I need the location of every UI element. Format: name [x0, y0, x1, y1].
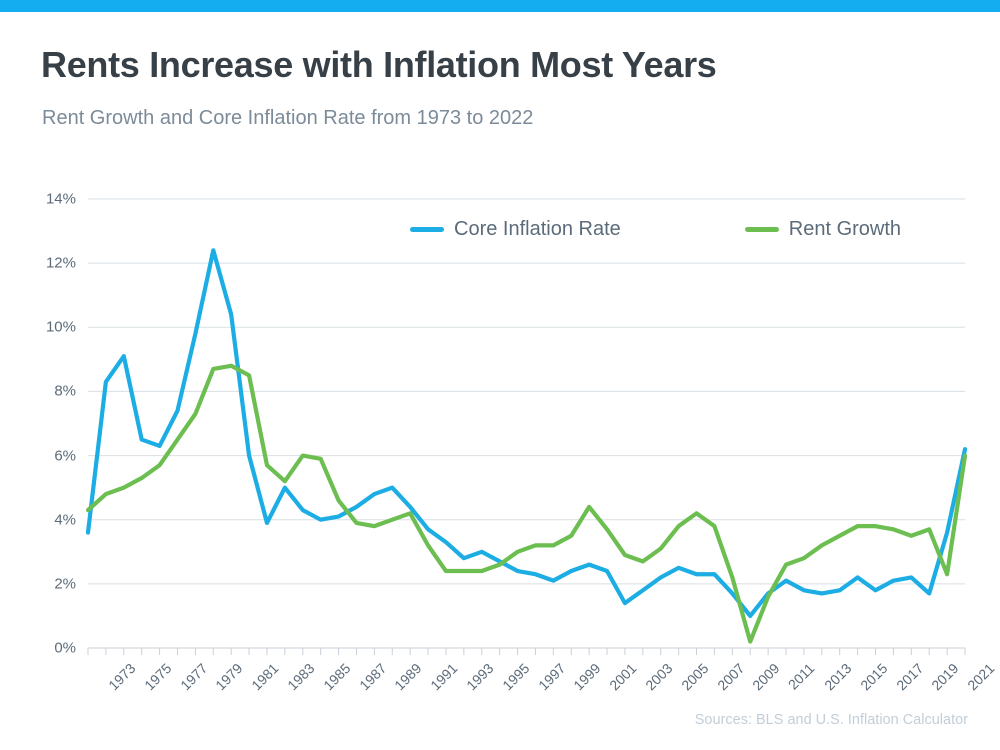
x-axis-tick-label: 2001	[606, 660, 639, 693]
x-axis-tick-label: 1993	[463, 660, 496, 693]
x-axis-tick-label: 2017	[893, 660, 926, 693]
source-attribution: Sources: BLS and U.S. Inflation Calculat…	[695, 712, 968, 728]
x-axis-tick-label: 1989	[391, 660, 424, 693]
x-axis-tick-label: 1983	[284, 660, 317, 693]
x-axis-tick-label: 2005	[678, 660, 711, 693]
x-axis-tick-label: 1991	[427, 660, 460, 693]
x-axis-tick-label: 2009	[749, 660, 782, 693]
x-axis-tick-label: 2003	[642, 660, 675, 693]
x-axis-tick-label: 1973	[105, 660, 138, 693]
x-axis-tick-label: 1985	[320, 660, 353, 693]
x-axis-tick-label: 1981	[248, 660, 281, 693]
x-axis-tick-label: 2007	[714, 660, 747, 693]
x-axis-tick-label: 1997	[535, 660, 568, 693]
x-axis-tick-label: 2013	[821, 660, 854, 693]
x-axis-tick-label: 1999	[570, 660, 603, 693]
x-axis-tick-label: 2011	[785, 660, 818, 693]
x-axis-labels: 1973197519771979198119831985198719891991…	[0, 0, 1000, 750]
x-axis-tick-label: 1975	[141, 660, 174, 693]
x-axis-tick-label: 2019	[928, 660, 961, 693]
chart-page: Rents Increase with Inflation Most Years…	[0, 0, 1000, 750]
x-axis-tick-label: 1995	[499, 660, 532, 693]
x-axis-tick-label: 1987	[356, 660, 389, 693]
x-axis-tick-label: 2015	[857, 660, 890, 693]
x-axis-tick-label: 1979	[213, 660, 246, 693]
x-axis-tick-label: 1977	[177, 660, 210, 693]
x-axis-tick-label: 2021	[964, 660, 997, 693]
